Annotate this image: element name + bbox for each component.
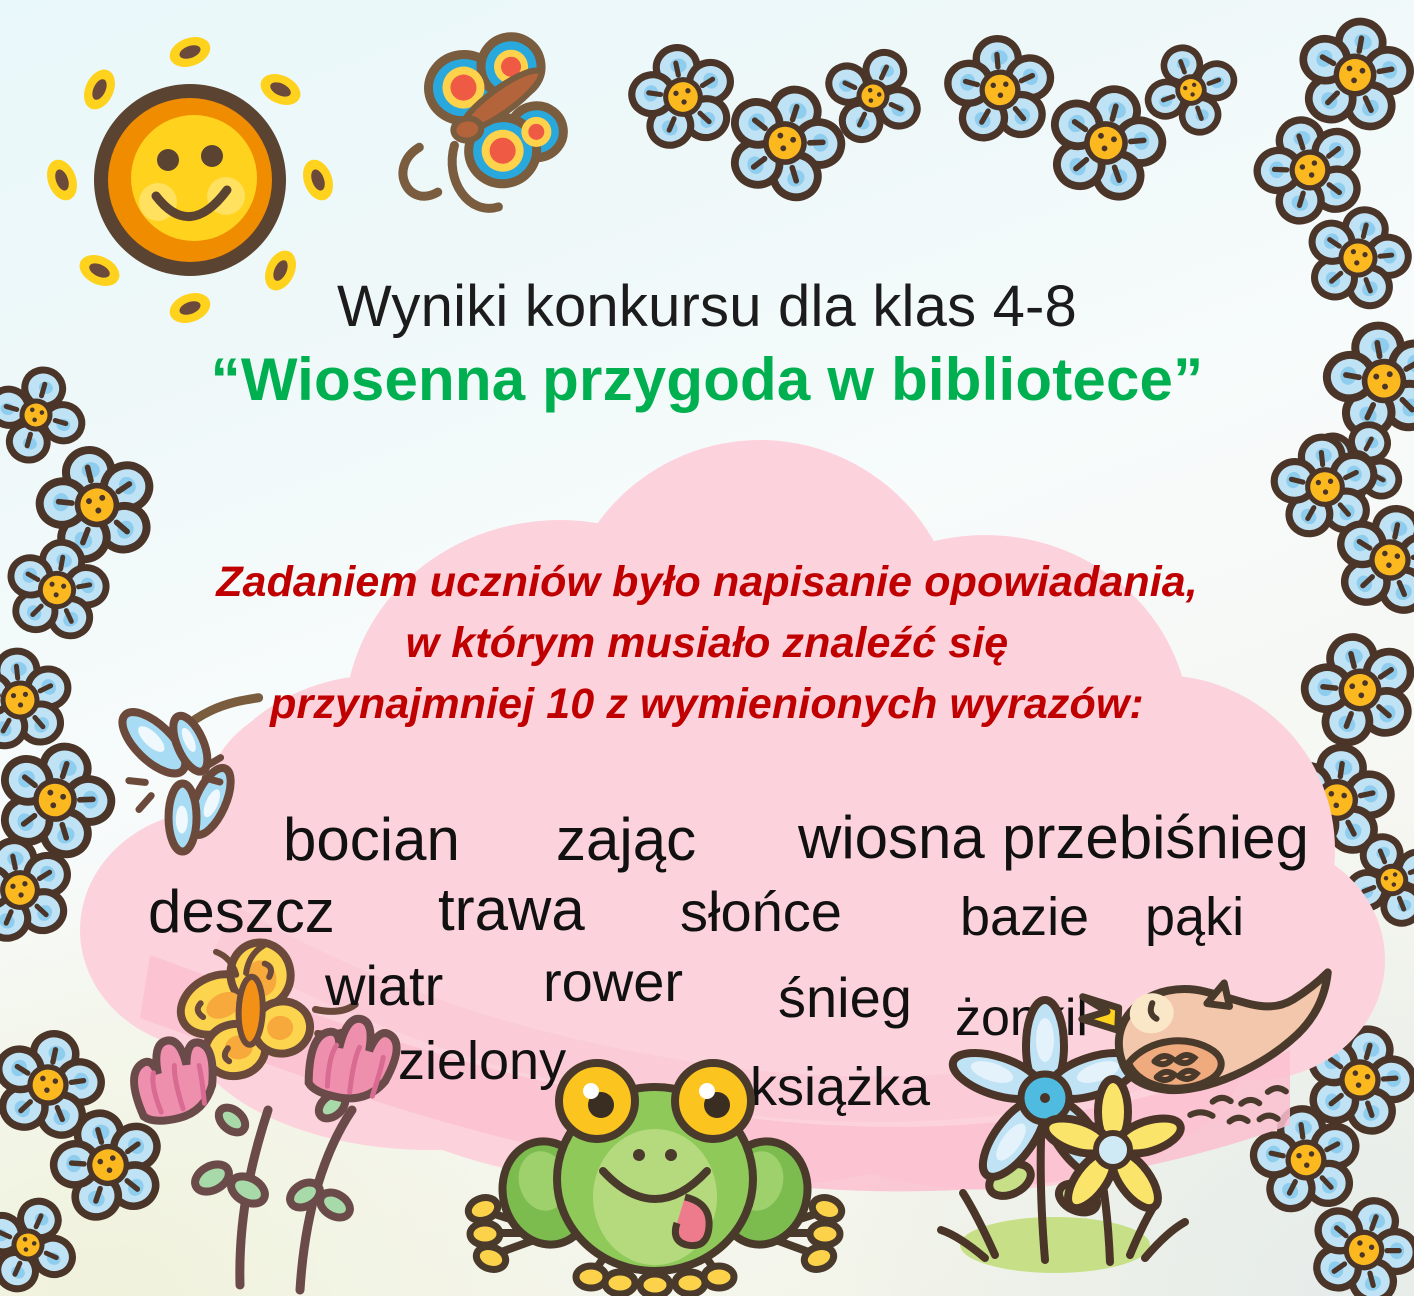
flower-pink-tulip-icon — [125, 1012, 401, 1290]
poster-canvas: Wyniki konkursu dla klas 4-8 “Wiosenna p… — [0, 0, 1414, 1296]
decorative-foreground — [0, 0, 1414, 1296]
frog-icon — [465, 1063, 844, 1296]
